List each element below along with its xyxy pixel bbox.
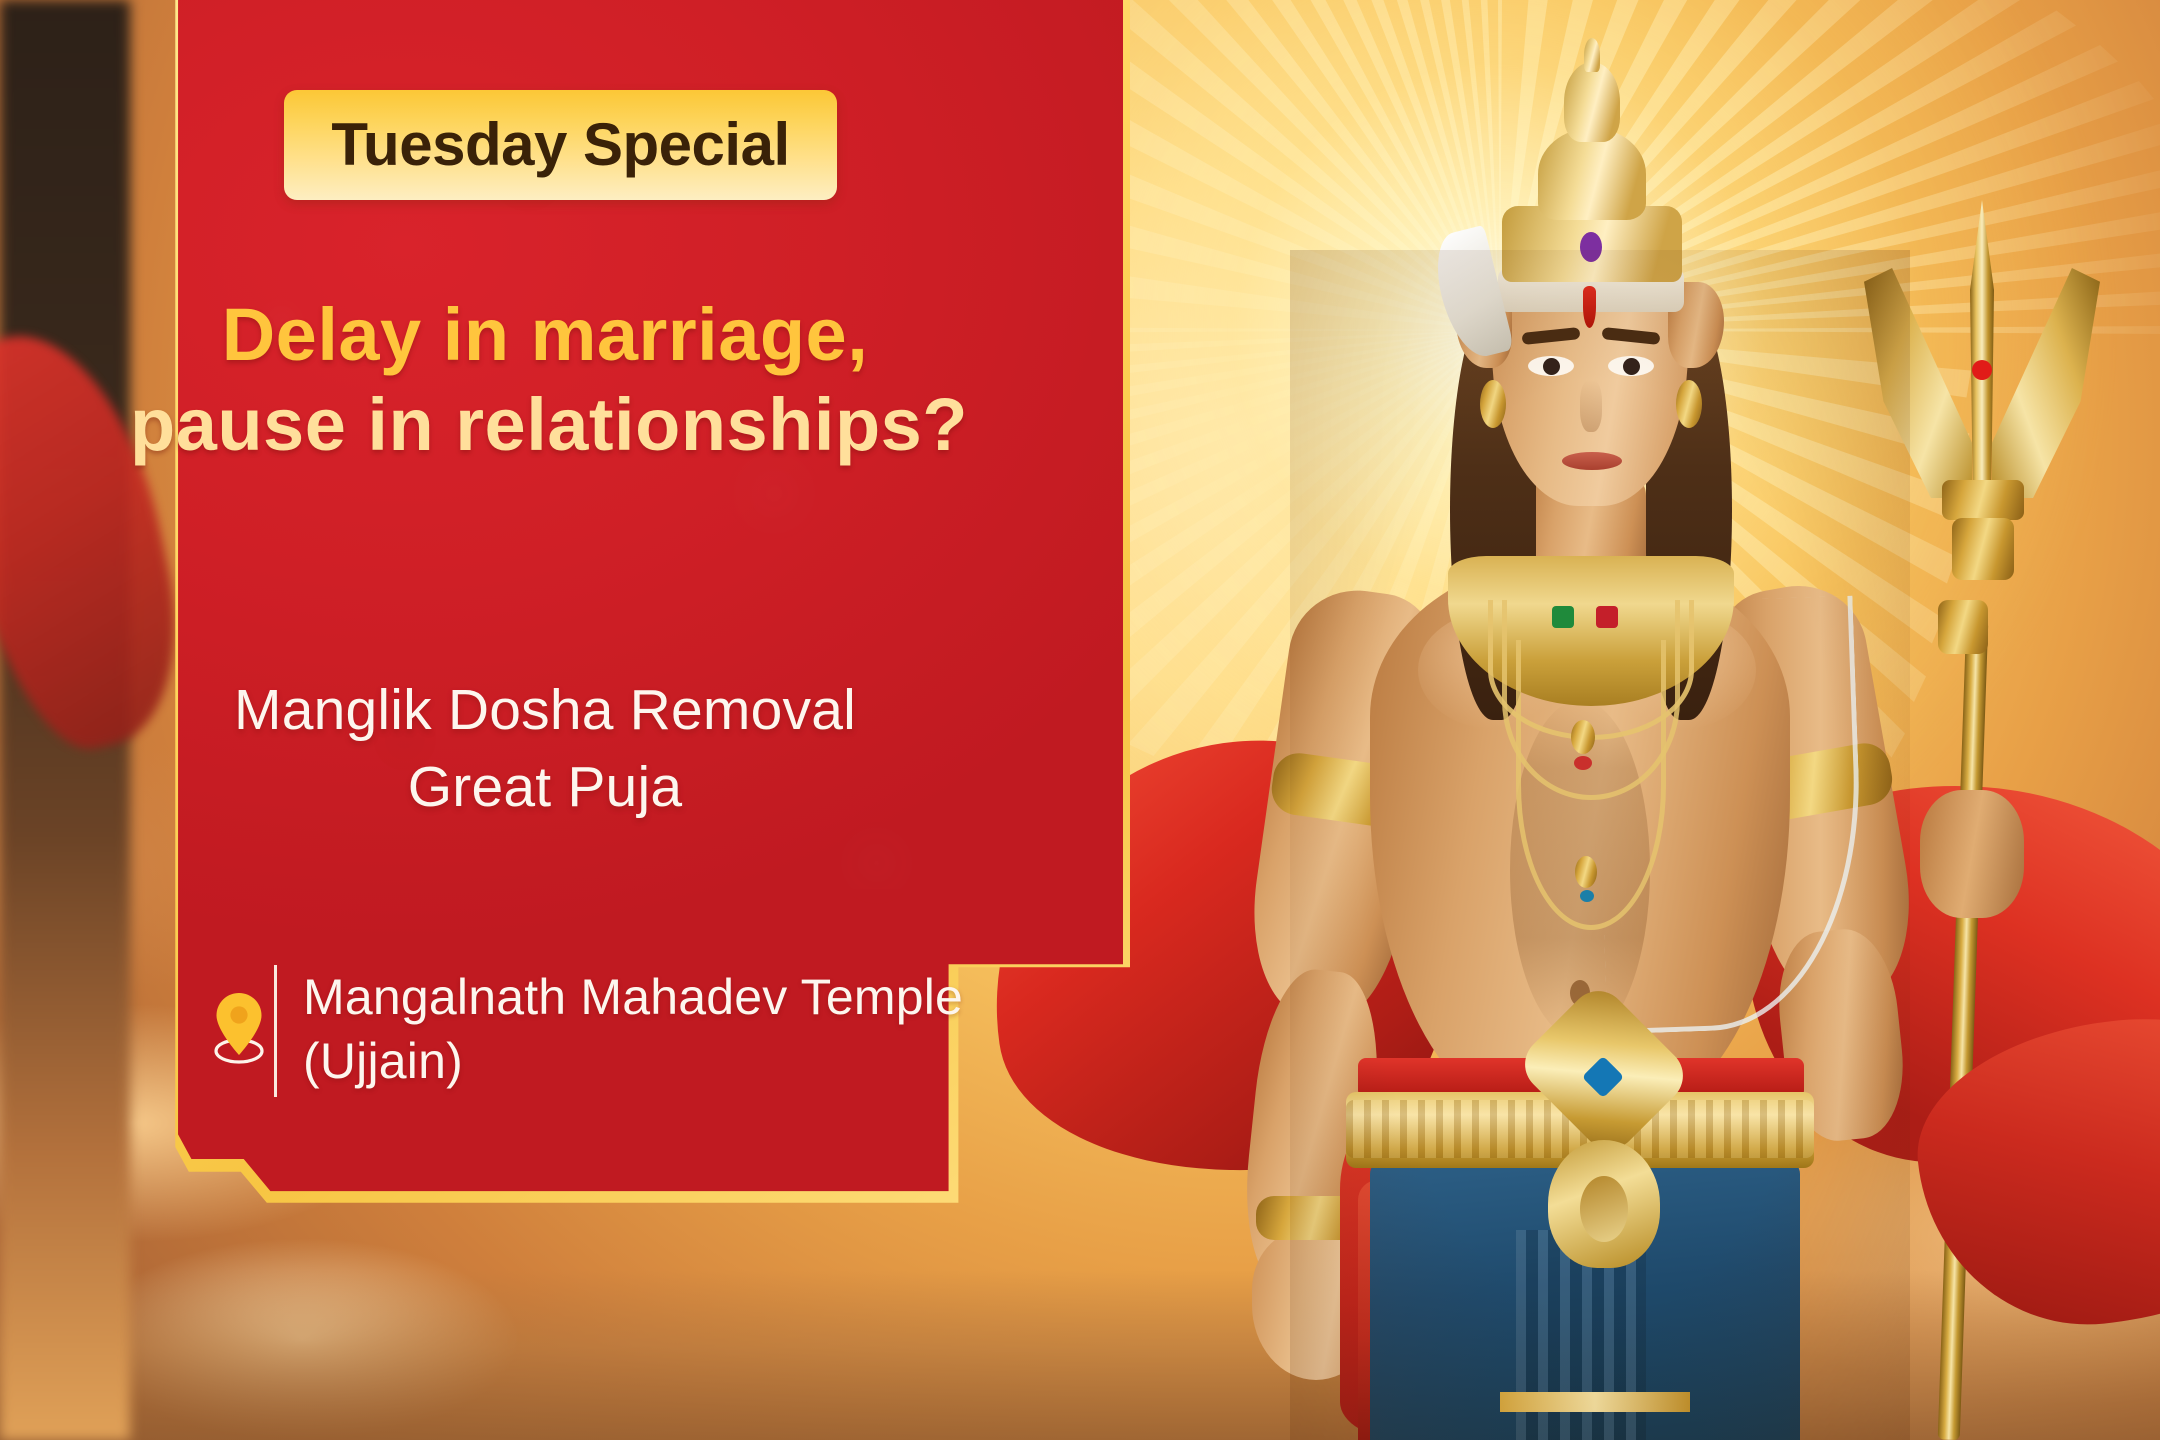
deity-illustration xyxy=(1040,0,2160,1440)
crown-top xyxy=(1564,62,1620,142)
tilak-mark xyxy=(1583,286,1596,328)
offer-card: Tuesday Special Delay in marriage, pause… xyxy=(90,0,1130,1240)
trident-head-icon xyxy=(1830,200,2130,630)
venue-block: Mangalnath Mahadev Temple (Ujjain) xyxy=(208,965,998,1097)
right-earring xyxy=(1676,380,1702,428)
crown-finial xyxy=(1584,38,1600,72)
promo-poster: Tuesday Special Delay in marriage, pause… xyxy=(0,0,2160,1440)
left-earring xyxy=(1480,380,1506,428)
subtitle-line-2: Great Puja xyxy=(130,749,960,826)
subtitle: Manglik Dosha Removal Great Puja xyxy=(130,672,960,826)
venue-divider xyxy=(274,965,277,1097)
venue-line-1: Mangalnath Mahadev Temple xyxy=(303,965,963,1029)
right-hand xyxy=(1920,790,2024,918)
headline-line-2: pause in relationships? xyxy=(130,380,960,470)
badge-label: Tuesday Special xyxy=(331,115,789,175)
venue-text: Mangalnath Mahadev Temple (Ujjain) xyxy=(303,965,963,1093)
subtitle-line-1: Manglik Dosha Removal xyxy=(130,672,960,749)
headline: Delay in marriage, pause in relationship… xyxy=(130,290,960,471)
crown-gem xyxy=(1580,232,1602,262)
headline-line-1: Delay in marriage, xyxy=(130,290,960,380)
location-pin-icon xyxy=(208,989,270,1065)
venue-line-2: (Ujjain) xyxy=(303,1029,963,1093)
tuesday-special-badge[interactable]: Tuesday Special xyxy=(284,90,837,200)
card-content: Tuesday Special Delay in marriage, pause… xyxy=(90,0,1130,1240)
